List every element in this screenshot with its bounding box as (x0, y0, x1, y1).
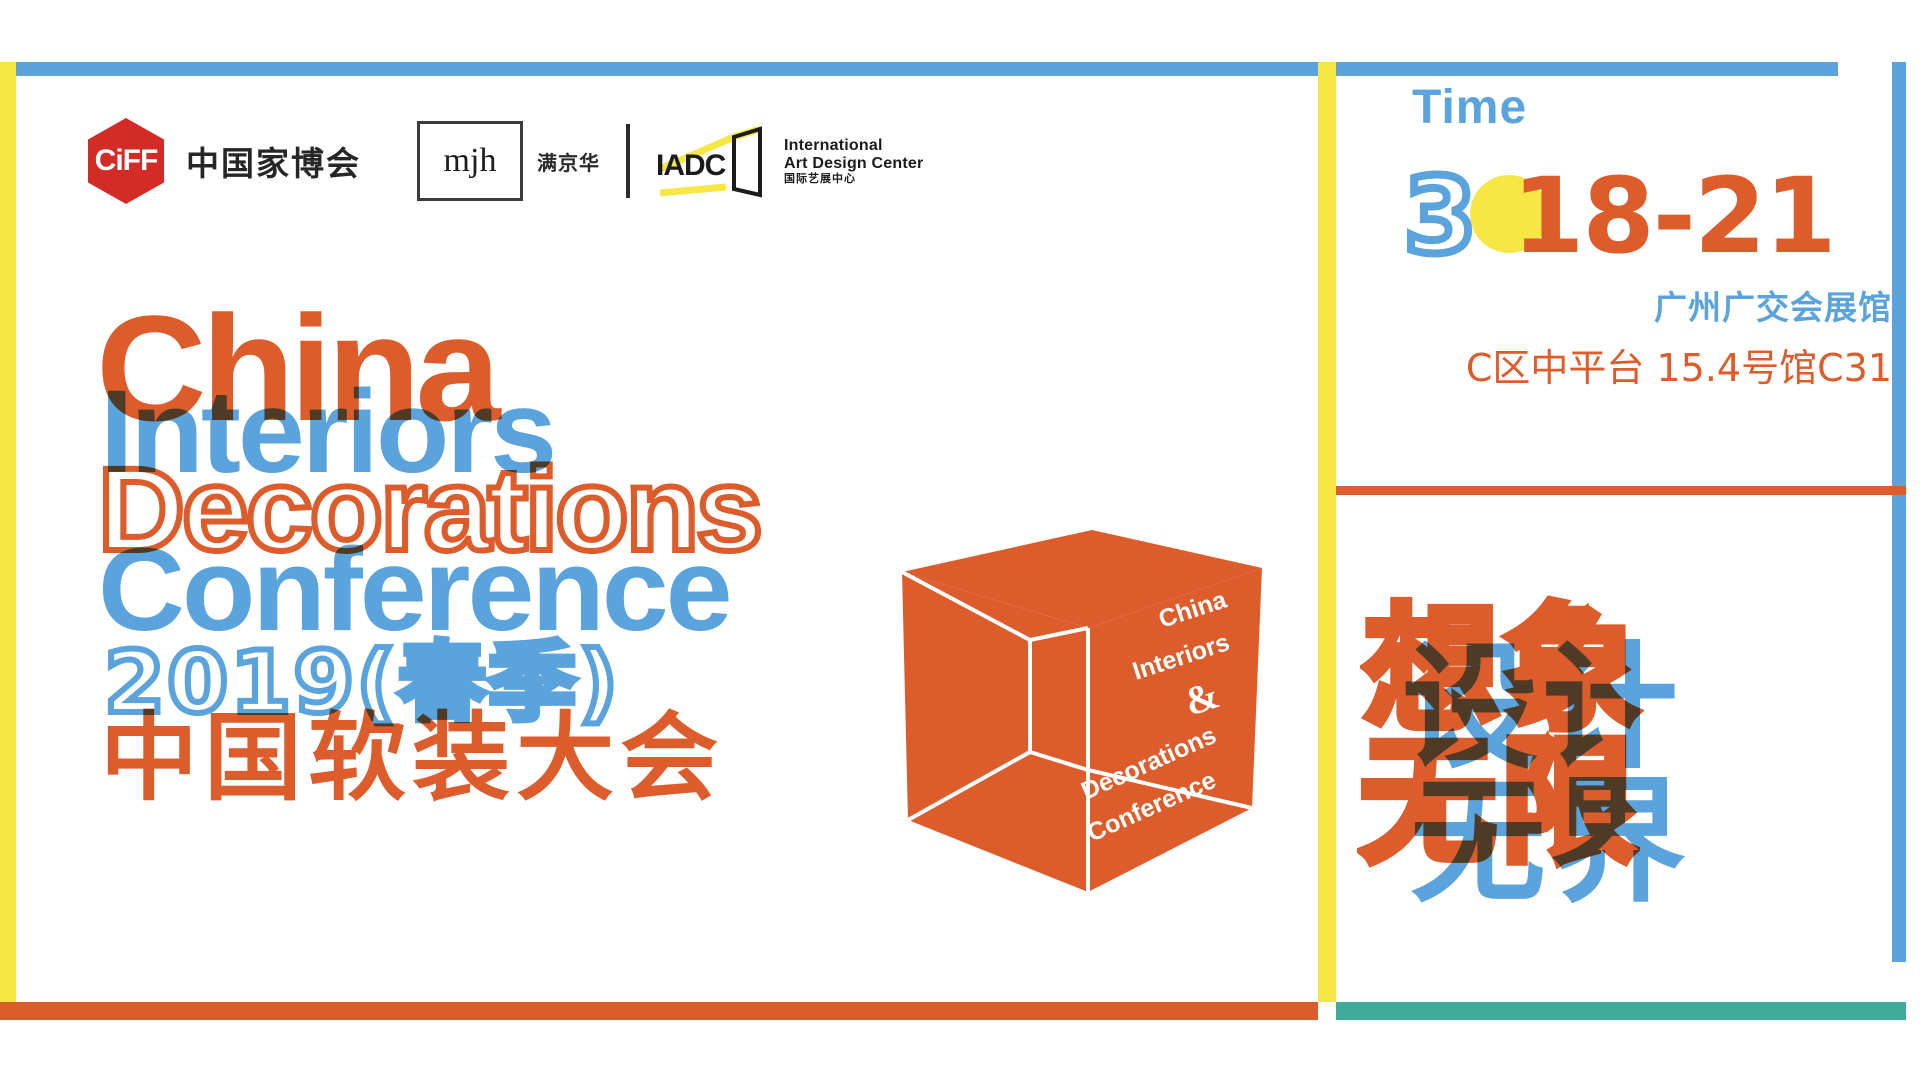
frame-bar-bottom-teal (1336, 1002, 1906, 1020)
iadc-building-logo-icon: IADC (656, 123, 768, 199)
frame-bar-bottom-orange (0, 1002, 1318, 1020)
orange-cube-icon: China Interiors & Decorations Conference (880, 520, 1280, 920)
slogan-solid-line2: 无界 (1410, 732, 1690, 929)
frame-bar-top-blue (0, 62, 1838, 76)
venue-hall: C区中平台 15.4号馆C31 (1352, 337, 1892, 392)
venue-block: 广州广交会展馆 C区中平台 15.4号馆C31 (1352, 281, 1908, 392)
frame-bar-middle-yellow (1318, 62, 1336, 1002)
date-days: 18-21 (1512, 155, 1835, 277)
iadc-wordmark: IADC (656, 149, 725, 183)
venue-name: 广州广交会展馆 (1352, 281, 1892, 329)
mjh-box-logo-icon: mjh (417, 121, 523, 201)
logo-ciff: CiFF 中国家博会 (88, 118, 361, 204)
frame-divider-orange (1336, 486, 1906, 495)
mjh-chinese-name: 满京华 (537, 147, 600, 176)
date-month: 3 (1404, 155, 1476, 277)
hexagon-logo-icon: CiFF (88, 118, 164, 204)
iadc-english-line1: International (784, 137, 923, 155)
iadc-name-block: International Art Design Center 国际艺展中心 (784, 137, 923, 185)
ciff-wordmark: CiFF (95, 144, 158, 178)
iadc-chinese-name: 国际艺展中心 (784, 173, 923, 185)
time-venue-panel: Time 3 18-21 广州广交会展馆 C区中平台 15.4号馆C31 (1352, 80, 1908, 392)
title-line-chinese: 中国软装大会 (100, 680, 724, 819)
frame-bar-left-yellow (0, 62, 16, 1002)
event-date: 3 18-21 (1352, 149, 1908, 259)
time-label: Time (1412, 80, 1908, 135)
iadc-english-line2: Art Design Center (784, 155, 923, 173)
ciff-chinese-name: 中国家博会 (186, 137, 361, 185)
slogan-block: 想象 设计 无限 无界 (1356, 560, 1912, 960)
logo-divider-rule (626, 124, 630, 198)
logo-iadc: IADC International Art Design Center 国际艺… (656, 123, 923, 199)
main-title-block: China Interiors Decorations Conference 2… (96, 282, 916, 902)
logo-mjh: mjh 满京华 (417, 121, 600, 201)
poster-canvas: CiFF 中国家博会 mjh 满京华 IADC International Ar… (0, 0, 1920, 1080)
sponsor-logo-row: CiFF 中国家博会 mjh 满京华 IADC International Ar… (88, 118, 923, 204)
